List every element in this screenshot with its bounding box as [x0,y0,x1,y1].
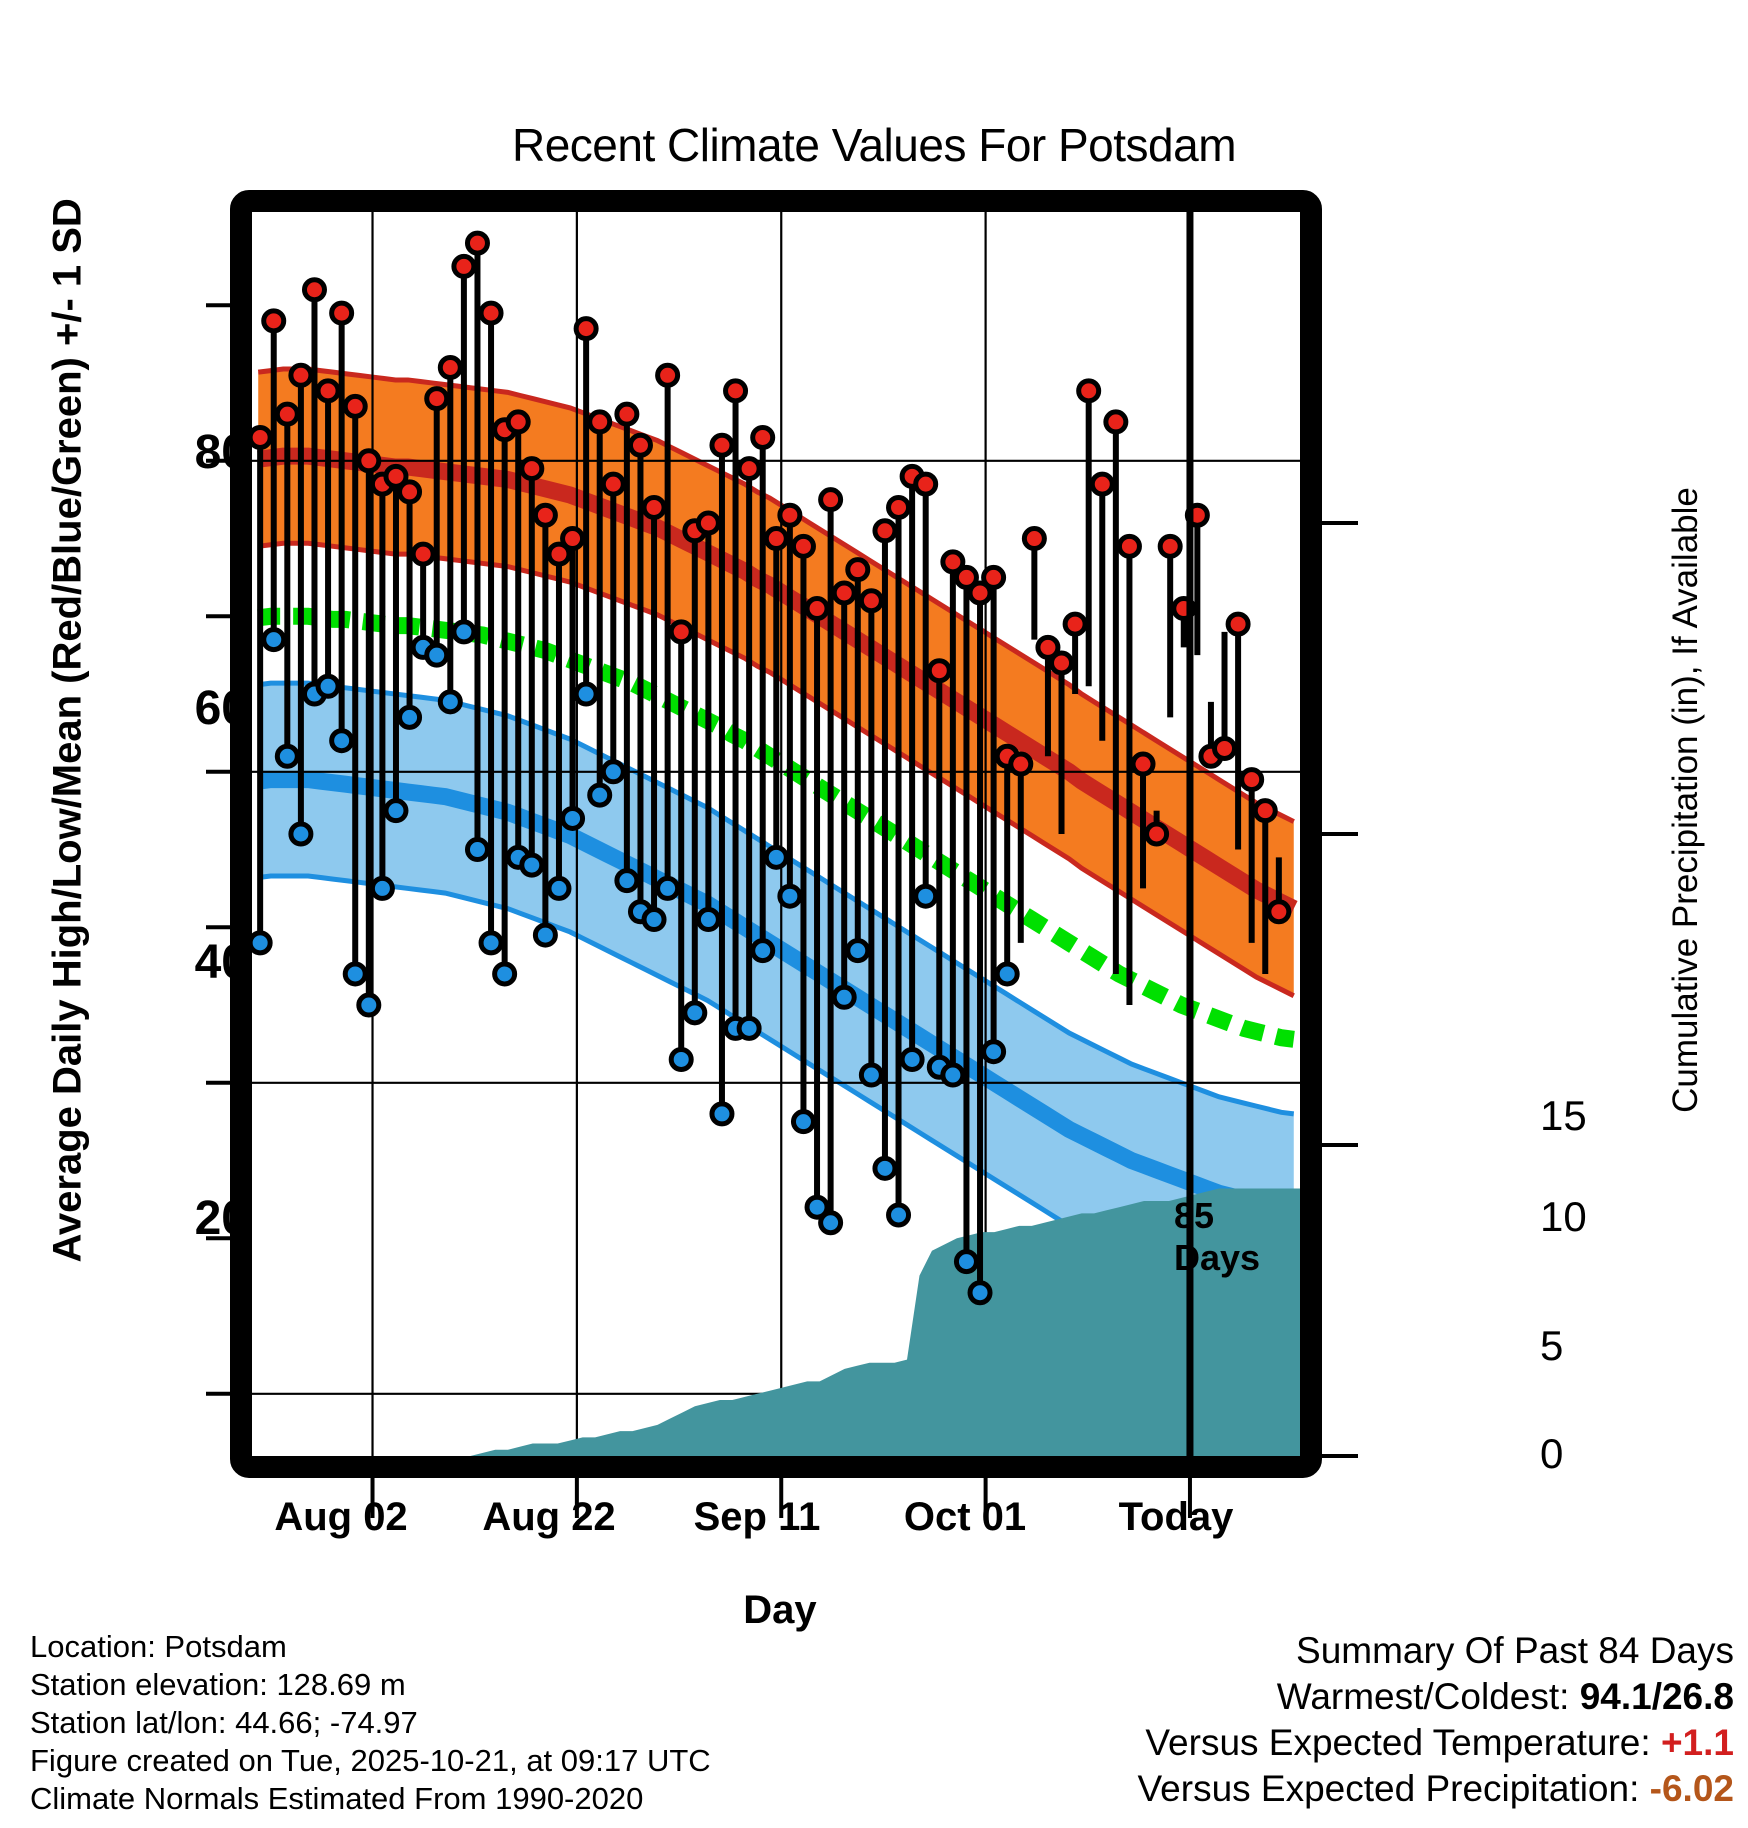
summary-title: Summary Of Past 84 Days [1138,1628,1734,1674]
days-count: 85 [1174,1195,1260,1237]
warmest-coldest-label: Warmest/Coldest: [1277,1676,1570,1717]
footer-location: Location: Potsdam [30,1628,711,1666]
footer-created: Figure created on Tue, 2025-10-21, at 09… [30,1742,711,1780]
summary-vs-precipitation: Versus Expected Precipitation: -6.02 [1138,1766,1734,1812]
vs-temp-label: Versus Expected Temperature: [1145,1722,1650,1763]
footer-summary-block: Summary Of Past 84 Days Warmest/Coldest:… [1138,1628,1734,1812]
days-annotation: 85 Days [1174,1195,1260,1279]
footer-latlon: Station lat/lon: 44.66; -74.97 [30,1704,711,1742]
climate-figure: Recent Climate Values For Potsdam Averag… [0,0,1748,1828]
warmest-coldest-value: 94.1/26.8 [1580,1676,1734,1717]
summary-warmest-coldest: Warmest/Coldest: 94.1/26.8 [1138,1674,1734,1720]
footer-normals: Climate Normals Estimated From 1990-2020 [30,1780,711,1818]
footer-location-block: Location: Potsdam Station elevation: 128… [30,1628,711,1818]
days-word: Days [1174,1237,1260,1279]
vs-temp-value: +1.1 [1661,1722,1734,1763]
vs-prcp-label: Versus Expected Precipitation: [1138,1768,1640,1809]
summary-vs-temperature: Versus Expected Temperature: +1.1 [1138,1720,1734,1766]
footer-elevation: Station elevation: 128.69 m [30,1666,711,1704]
plot-area [0,0,1748,1828]
vs-prcp-value: -6.02 [1650,1768,1734,1809]
